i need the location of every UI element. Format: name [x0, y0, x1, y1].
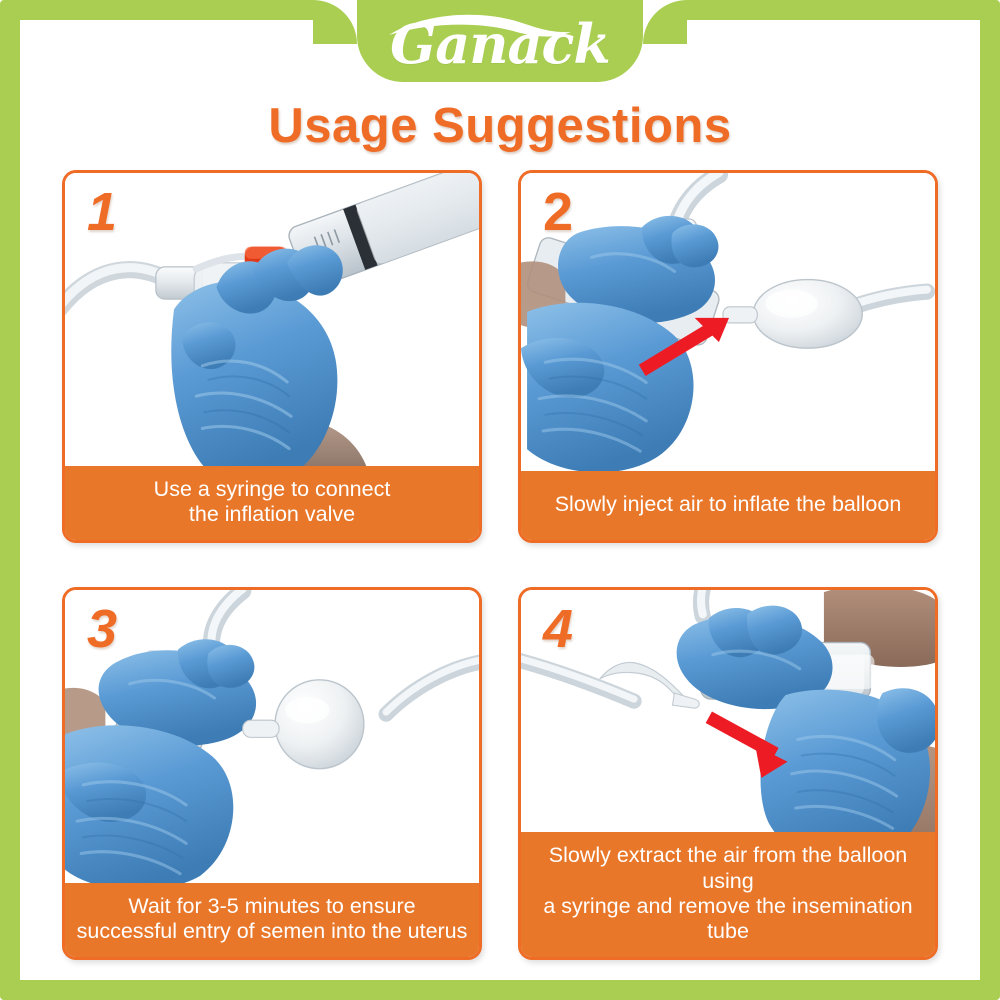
step-panel-1: 1 Use a syringe to connect the inflation…	[62, 170, 482, 543]
step-photo-4: 4	[521, 590, 935, 832]
illustration-connect-syringe-to-valve	[65, 173, 479, 466]
step-caption-1-line-2: the inflation valve	[75, 502, 469, 527]
illustration-extract-air-remove-tube	[521, 590, 935, 832]
step-caption-3-line-1: Wait for 3-5 minutes to ensure	[75, 894, 469, 919]
product-infographic-poster: Ganack Usage Suggestions	[0, 0, 1000, 1000]
step-photo-2: 2	[521, 173, 935, 471]
step-caption-1-line-1: Use a syringe to connect	[75, 477, 469, 502]
steps-grid: 1 Use a syringe to connect the inflation…	[62, 170, 938, 960]
step-caption-2: Slowly inject air to inflate the balloon	[521, 471, 935, 540]
illustration-inject-air-inflate-balloon	[521, 173, 935, 471]
step-panel-2: 2 Slowly inject air to inflate the ballo…	[518, 170, 938, 543]
step-caption-2-line-1: Slowly inject air to inflate the balloon	[531, 492, 925, 517]
step-photo-1: 1	[65, 173, 479, 466]
step-caption-4: Slowly extract the air from the balloon …	[521, 832, 935, 957]
step-number-2: 2	[543, 185, 573, 239]
step-caption-1: Use a syringe to connect the inflation v…	[65, 466, 479, 540]
step-caption-3-line-2: successful entry of semen into the uteru…	[75, 919, 469, 944]
step-photo-3: 3	[65, 590, 479, 883]
step-panel-3: 3 Wait for 3-5 minutes to ensure success…	[62, 587, 482, 960]
step-number-1: 1	[87, 185, 117, 239]
banner-notch-left	[313, 0, 357, 44]
step-number-3: 3	[87, 602, 117, 656]
illustration-wait-balloon-inflated	[65, 590, 479, 883]
step-number-4: 4	[543, 602, 573, 656]
brand-logo-text: Ganack	[390, 17, 610, 71]
brand-banner: Ganack	[357, 0, 643, 82]
step-caption-4-line-1: Slowly extract the air from the balloon …	[531, 843, 925, 893]
step-caption-4-line-2: a syringe and remove the insemination tu…	[531, 894, 925, 944]
page-title: Usage Suggestions	[20, 98, 980, 154]
banner-notch-right	[643, 0, 687, 44]
step-panel-4: 4 Slowly extract the air from the balloo…	[518, 587, 938, 960]
step-caption-3: Wait for 3-5 minutes to ensure successfu…	[65, 883, 479, 957]
